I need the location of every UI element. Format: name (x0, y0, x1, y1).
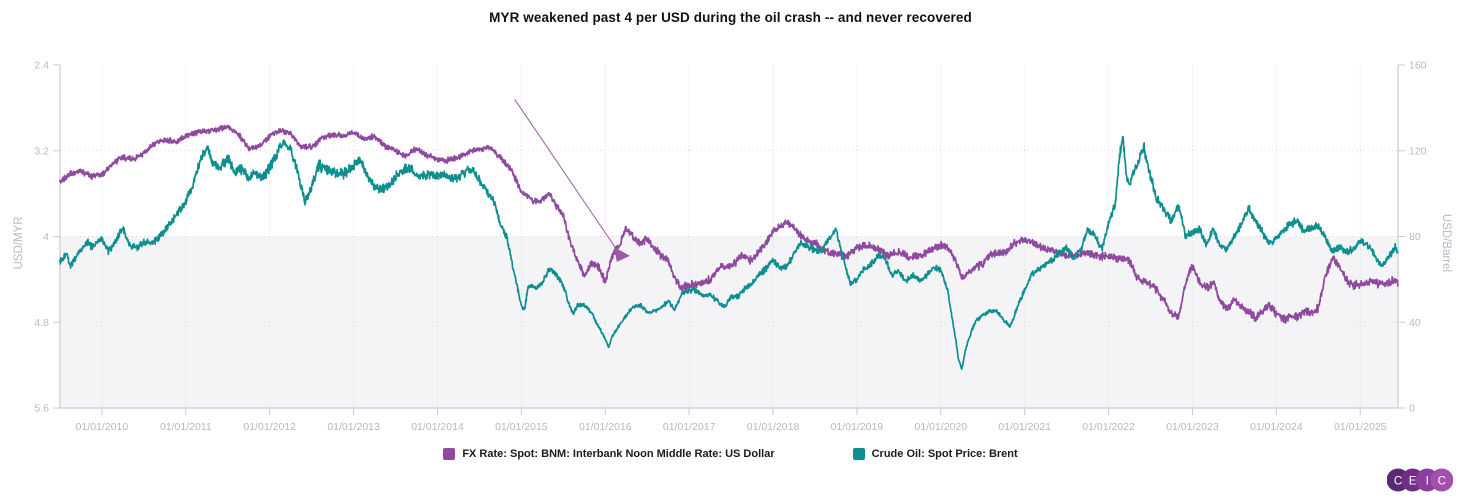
y-tick-label: 4 (43, 231, 49, 243)
x-tick-label: 01/01/2018 (747, 421, 800, 433)
ceic-logo: CEIC (1387, 467, 1453, 493)
x-tick-label: 01/01/2010 (76, 421, 129, 433)
y2-tick-label: 120 (1409, 145, 1427, 157)
logo-letter: C (1394, 476, 1402, 488)
legend-item-fx-rate[interactable]: FX Rate: Spot: BNM: Interbank Noon Middl… (443, 448, 774, 460)
x-tick-label: 01/01/2019 (831, 421, 884, 433)
y2-tick-label: 160 (1409, 60, 1427, 72)
y-axis-title: USD/MYR (13, 216, 25, 269)
x-tick-label: 01/01/2015 (495, 421, 548, 433)
y-axis-ticks: 2.43.244.85.6 (34, 60, 60, 415)
legend-swatch-fx-rate (443, 448, 455, 460)
y-tick-label: 3.2 (34, 145, 49, 157)
y-tick-label: 5.6 (34, 403, 49, 415)
x-tick-label: 01/01/2021 (998, 421, 1051, 433)
y-tick-label: 2.4 (34, 60, 49, 72)
x-tick-label: 01/01/2012 (243, 421, 296, 433)
chart-container: MYR weakened past 4 per USD during the o… (0, 0, 1461, 499)
y2-axis-ticks: 16012080400 (1398, 60, 1427, 415)
x-tick-label: 01/01/2013 (327, 421, 380, 433)
x-tick-label: 01/01/2016 (579, 421, 632, 433)
x-tick-label: 01/01/2020 (915, 421, 968, 433)
logo-letter: C (1438, 476, 1446, 488)
y-tick-label: 4.8 (34, 317, 49, 329)
legend-label-brent: Crude Oil: Spot Price: Brent (872, 448, 1018, 460)
x-tick-label: 01/01/2023 (1166, 421, 1219, 433)
logo-letter: E (1409, 476, 1417, 488)
y2-axis-title: USD/Barrel (1440, 214, 1452, 272)
y2-tick-label: 0 (1409, 403, 1415, 415)
legend-item-brent[interactable]: Crude Oil: Spot Price: Brent (853, 448, 1018, 460)
chart-legend: FX Rate: Spot: BNM: Interbank Noon Middl… (0, 448, 1461, 460)
x-tick-label: 01/01/2011 (160, 421, 212, 433)
x-tick-label: 01/01/2022 (1082, 421, 1135, 433)
x-tick-label: 01/01/2014 (411, 421, 464, 433)
x-tick-label: 01/01/2024 (1250, 421, 1303, 433)
y2-tick-label: 80 (1409, 231, 1421, 243)
logo-letter: I (1426, 476, 1429, 488)
chart-plot-area: 2.43.244.85.6 16012080400 01/01/201001/0… (0, 0, 1461, 499)
legend-swatch-brent (853, 448, 865, 460)
x-tick-label: 01/01/2025 (1334, 421, 1387, 433)
y2-tick-label: 40 (1409, 317, 1421, 329)
x-tick-label: 01/01/2017 (663, 421, 716, 433)
legend-label-fx-rate: FX Rate: Spot: BNM: Interbank Noon Middl… (462, 448, 774, 460)
x-axis-ticks: 01/01/201001/01/201101/01/201201/01/2013… (76, 408, 1387, 433)
